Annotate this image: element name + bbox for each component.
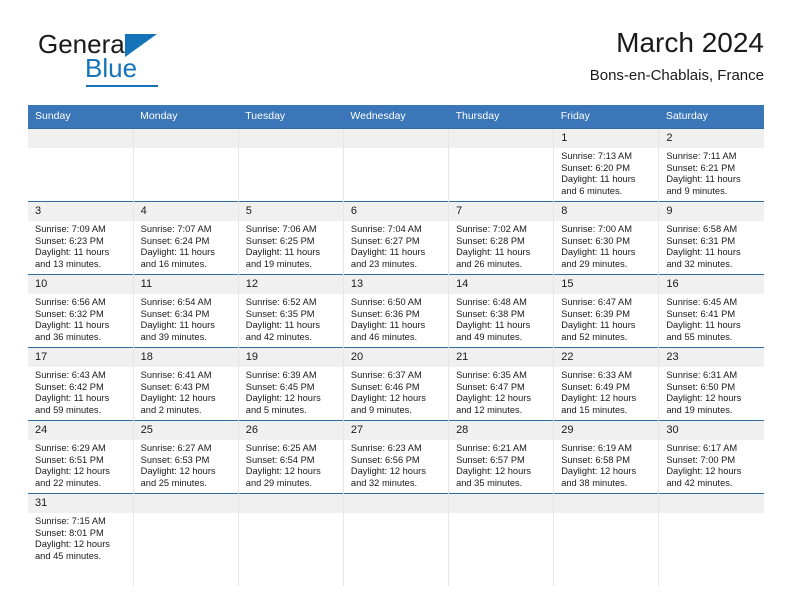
day-number: 19 bbox=[239, 348, 343, 367]
calendar-empty-cell bbox=[449, 129, 554, 202]
calendar-empty-cell bbox=[133, 129, 238, 202]
day-number: 12 bbox=[239, 275, 343, 294]
daylight-text: Daylight: 12 hours and 42 minutes. bbox=[666, 466, 758, 489]
day-events: Sunrise: 6:31 AMSunset: 6:50 PMDaylight:… bbox=[659, 367, 764, 418]
sunset-text: Sunset: 6:43 PM bbox=[141, 382, 232, 394]
day-events: Sunrise: 6:33 AMSunset: 6:49 PMDaylight:… bbox=[554, 367, 658, 418]
day-events: Sunrise: 7:07 AMSunset: 6:24 PMDaylight:… bbox=[134, 221, 238, 272]
calendar-empty-cell bbox=[238, 494, 343, 587]
sunset-text: Sunset: 6:56 PM bbox=[351, 455, 442, 467]
day-events: Sunrise: 6:35 AMSunset: 6:47 PMDaylight:… bbox=[449, 367, 553, 418]
sunrise-text: Sunrise: 7:06 AM bbox=[246, 224, 337, 236]
day-number: 31 bbox=[28, 494, 133, 513]
day-events: Sunrise: 6:54 AMSunset: 6:34 PMDaylight:… bbox=[134, 294, 238, 345]
day-events: Sunrise: 6:43 AMSunset: 6:42 PMDaylight:… bbox=[28, 367, 133, 418]
day-events: Sunrise: 6:17 AMSunset: 7:00 PMDaylight:… bbox=[659, 440, 764, 491]
daylight-text: Daylight: 12 hours and 25 minutes. bbox=[141, 466, 232, 489]
sunset-text: Sunset: 6:54 PM bbox=[246, 455, 337, 467]
sunset-text: Sunset: 6:30 PM bbox=[561, 236, 652, 248]
daylight-text: Daylight: 11 hours and 9 minutes. bbox=[666, 174, 758, 197]
calendar-day-cell[interactable]: 15Sunrise: 6:47 AMSunset: 6:39 PMDayligh… bbox=[554, 275, 659, 348]
calendar-empty-cell bbox=[238, 129, 343, 202]
day-number: 28 bbox=[449, 421, 553, 440]
sunrise-text: Sunrise: 7:09 AM bbox=[35, 224, 127, 236]
day-number: 15 bbox=[554, 275, 658, 294]
day-number bbox=[554, 494, 658, 513]
calendar-week-row: 17Sunrise: 6:43 AMSunset: 6:42 PMDayligh… bbox=[28, 348, 764, 421]
sunset-text: Sunset: 6:41 PM bbox=[666, 309, 758, 321]
sunset-text: Sunset: 6:49 PM bbox=[561, 382, 652, 394]
sunset-text: Sunset: 6:27 PM bbox=[351, 236, 442, 248]
daylight-text: Daylight: 11 hours and 55 minutes. bbox=[666, 320, 758, 343]
sunrise-text: Sunrise: 6:50 AM bbox=[351, 297, 442, 309]
day-number bbox=[134, 494, 238, 513]
calendar-empty-cell bbox=[343, 494, 448, 587]
day-events: Sunrise: 6:37 AMSunset: 6:46 PMDaylight:… bbox=[344, 367, 448, 418]
sunrise-text: Sunrise: 6:43 AM bbox=[35, 370, 127, 382]
daylight-text: Daylight: 11 hours and 16 minutes. bbox=[141, 247, 232, 270]
sunrise-text: Sunrise: 6:17 AM bbox=[666, 443, 758, 455]
weekday-header-wednesday: Wednesday bbox=[343, 105, 448, 129]
brand-logo[interactable]: General Blue bbox=[28, 26, 248, 88]
sunrise-text: Sunrise: 6:29 AM bbox=[35, 443, 127, 455]
day-number bbox=[239, 129, 343, 148]
weekday-header-sunday: Sunday bbox=[28, 105, 133, 129]
calendar-day-cell[interactable]: 13Sunrise: 6:50 AMSunset: 6:36 PMDayligh… bbox=[343, 275, 448, 348]
sunset-text: Sunset: 6:42 PM bbox=[35, 382, 127, 394]
calendar-day-cell[interactable]: 4Sunrise: 7:07 AMSunset: 6:24 PMDaylight… bbox=[133, 202, 238, 275]
day-number: 22 bbox=[554, 348, 658, 367]
day-events: Sunrise: 7:15 AMSunset: 8:01 PMDaylight:… bbox=[28, 513, 133, 564]
calendar-day-cell[interactable]: 28Sunrise: 6:21 AMSunset: 6:57 PMDayligh… bbox=[449, 421, 554, 494]
sunset-text: Sunset: 6:38 PM bbox=[456, 309, 547, 321]
calendar-day-cell[interactable]: 8Sunrise: 7:00 AMSunset: 6:30 PMDaylight… bbox=[554, 202, 659, 275]
sunset-text: Sunset: 6:25 PM bbox=[246, 236, 337, 248]
sunset-text: Sunset: 6:45 PM bbox=[246, 382, 337, 394]
day-number bbox=[449, 129, 553, 148]
day-number bbox=[134, 129, 238, 148]
calendar-day-cell[interactable]: 21Sunrise: 6:35 AMSunset: 6:47 PMDayligh… bbox=[449, 348, 554, 421]
sunset-text: Sunset: 6:35 PM bbox=[246, 309, 337, 321]
daylight-text: Daylight: 11 hours and 13 minutes. bbox=[35, 247, 127, 270]
day-number: 10 bbox=[28, 275, 133, 294]
calendar-day-cell[interactable]: 14Sunrise: 6:48 AMSunset: 6:38 PMDayligh… bbox=[449, 275, 554, 348]
day-number: 21 bbox=[449, 348, 553, 367]
calendar-day-cell[interactable]: 19Sunrise: 6:39 AMSunset: 6:45 PMDayligh… bbox=[238, 348, 343, 421]
daylight-text: Daylight: 12 hours and 22 minutes. bbox=[35, 466, 127, 489]
daylight-text: Daylight: 12 hours and 2 minutes. bbox=[141, 393, 232, 416]
daylight-text: Daylight: 12 hours and 32 minutes. bbox=[351, 466, 442, 489]
sunset-text: Sunset: 6:36 PM bbox=[351, 309, 442, 321]
day-events: Sunrise: 7:06 AMSunset: 6:25 PMDaylight:… bbox=[239, 221, 343, 272]
calendar-day-cell[interactable]: 22Sunrise: 6:33 AMSunset: 6:49 PMDayligh… bbox=[554, 348, 659, 421]
day-number bbox=[239, 494, 343, 513]
sunrise-text: Sunrise: 6:21 AM bbox=[456, 443, 547, 455]
day-events: Sunrise: 6:41 AMSunset: 6:43 PMDaylight:… bbox=[134, 367, 238, 418]
daylight-text: Daylight: 11 hours and 23 minutes. bbox=[351, 247, 442, 270]
sunset-text: Sunset: 7:00 PM bbox=[666, 455, 758, 467]
day-number: 5 bbox=[239, 202, 343, 221]
sunrise-text: Sunrise: 6:27 AM bbox=[141, 443, 232, 455]
day-number: 23 bbox=[659, 348, 764, 367]
calendar-day-cell[interactable]: 3Sunrise: 7:09 AMSunset: 6:23 PMDaylight… bbox=[28, 202, 133, 275]
calendar-header-row: Sunday Monday Tuesday Wednesday Thursday… bbox=[28, 105, 764, 129]
daylight-text: Daylight: 11 hours and 52 minutes. bbox=[561, 320, 652, 343]
calendar-empty-cell bbox=[554, 494, 659, 587]
sunrise-text: Sunrise: 7:04 AM bbox=[351, 224, 442, 236]
day-number: 16 bbox=[659, 275, 764, 294]
calendar-day-cell[interactable]: 31Sunrise: 7:15 AMSunset: 8:01 PMDayligh… bbox=[28, 494, 133, 587]
sunset-text: Sunset: 6:57 PM bbox=[456, 455, 547, 467]
day-events: Sunrise: 6:45 AMSunset: 6:41 PMDaylight:… bbox=[659, 294, 764, 345]
day-number: 7 bbox=[449, 202, 553, 221]
sunset-text: Sunset: 6:51 PM bbox=[35, 455, 127, 467]
brand-name-bottom: Blue bbox=[85, 53, 137, 84]
day-number: 29 bbox=[554, 421, 658, 440]
sunset-text: Sunset: 6:31 PM bbox=[666, 236, 758, 248]
calendar-day-cell[interactable]: 12Sunrise: 6:52 AMSunset: 6:35 PMDayligh… bbox=[238, 275, 343, 348]
page-subtitle: Bons-en-Chablais, France bbox=[590, 66, 764, 85]
day-events: Sunrise: 6:23 AMSunset: 6:56 PMDaylight:… bbox=[344, 440, 448, 491]
day-number bbox=[449, 494, 553, 513]
day-events: Sunrise: 7:09 AMSunset: 6:23 PMDaylight:… bbox=[28, 221, 133, 272]
calendar-empty-cell bbox=[343, 129, 448, 202]
day-events: Sunrise: 7:02 AMSunset: 6:28 PMDaylight:… bbox=[449, 221, 553, 272]
daylight-text: Daylight: 11 hours and 36 minutes. bbox=[35, 320, 127, 343]
day-number: 11 bbox=[134, 275, 238, 294]
sunset-text: Sunset: 6:21 PM bbox=[666, 163, 758, 175]
calendar-day-cell[interactable]: 11Sunrise: 6:54 AMSunset: 6:34 PMDayligh… bbox=[133, 275, 238, 348]
day-number: 1 bbox=[554, 129, 658, 148]
day-events: Sunrise: 6:39 AMSunset: 6:45 PMDaylight:… bbox=[239, 367, 343, 418]
daylight-text: Daylight: 11 hours and 59 minutes. bbox=[35, 393, 127, 416]
calendar-week-row: 24Sunrise: 6:29 AMSunset: 6:51 PMDayligh… bbox=[28, 421, 764, 494]
daylight-text: Daylight: 11 hours and 6 minutes. bbox=[561, 174, 652, 197]
day-number: 30 bbox=[659, 421, 764, 440]
daylight-text: Daylight: 11 hours and 29 minutes. bbox=[561, 247, 652, 270]
day-number bbox=[28, 129, 133, 148]
daylight-text: Daylight: 11 hours and 42 minutes. bbox=[246, 320, 337, 343]
day-number: 2 bbox=[659, 129, 764, 148]
day-number: 24 bbox=[28, 421, 133, 440]
sunset-text: Sunset: 6:28 PM bbox=[456, 236, 547, 248]
sunrise-text: Sunrise: 6:48 AM bbox=[456, 297, 547, 309]
sunrise-text: Sunrise: 6:47 AM bbox=[561, 297, 652, 309]
calendar-empty-cell bbox=[28, 129, 133, 202]
sunset-text: Sunset: 6:58 PM bbox=[561, 455, 652, 467]
daylight-text: Daylight: 12 hours and 15 minutes. bbox=[561, 393, 652, 416]
sunset-text: Sunset: 6:34 PM bbox=[141, 309, 232, 321]
sunrise-text: Sunrise: 6:58 AM bbox=[666, 224, 758, 236]
sunrise-text: Sunrise: 6:31 AM bbox=[666, 370, 758, 382]
calendar-day-cell[interactable]: 17Sunrise: 6:43 AMSunset: 6:42 PMDayligh… bbox=[28, 348, 133, 421]
calendar-empty-cell bbox=[659, 494, 764, 587]
sunrise-text: Sunrise: 6:23 AM bbox=[351, 443, 442, 455]
calendar-week-row: 31Sunrise: 7:15 AMSunset: 8:01 PMDayligh… bbox=[28, 494, 764, 587]
day-number bbox=[659, 494, 764, 513]
sunset-text: Sunset: 6:46 PM bbox=[351, 382, 442, 394]
calendar-day-cell[interactable]: 9Sunrise: 6:58 AMSunset: 6:31 PMDaylight… bbox=[659, 202, 764, 275]
day-events: Sunrise: 7:11 AMSunset: 6:21 PMDaylight:… bbox=[659, 148, 764, 199]
sunset-text: Sunset: 6:23 PM bbox=[35, 236, 127, 248]
calendar-body: 1Sunrise: 7:13 AMSunset: 6:20 PMDaylight… bbox=[28, 129, 764, 587]
daylight-text: Daylight: 11 hours and 19 minutes. bbox=[246, 247, 337, 270]
sunset-text: Sunset: 6:50 PM bbox=[666, 382, 758, 394]
daylight-text: Daylight: 12 hours and 29 minutes. bbox=[246, 466, 337, 489]
calendar-empty-cell bbox=[133, 494, 238, 587]
calendar-day-cell[interactable]: 30Sunrise: 6:17 AMSunset: 7:00 PMDayligh… bbox=[659, 421, 764, 494]
sunset-text: Sunset: 8:01 PM bbox=[35, 528, 127, 540]
daylight-text: Daylight: 11 hours and 39 minutes. bbox=[141, 320, 232, 343]
day-number: 26 bbox=[239, 421, 343, 440]
sunrise-text: Sunrise: 7:02 AM bbox=[456, 224, 547, 236]
sunrise-text: Sunrise: 6:56 AM bbox=[35, 297, 127, 309]
calendar-empty-cell bbox=[449, 494, 554, 587]
day-number: 18 bbox=[134, 348, 238, 367]
calendar-day-cell[interactable]: 27Sunrise: 6:23 AMSunset: 6:56 PMDayligh… bbox=[343, 421, 448, 494]
calendar-day-cell[interactable]: 10Sunrise: 6:56 AMSunset: 6:32 PMDayligh… bbox=[28, 275, 133, 348]
sunset-text: Sunset: 6:47 PM bbox=[456, 382, 547, 394]
calendar-day-cell[interactable]: 24Sunrise: 6:29 AMSunset: 6:51 PMDayligh… bbox=[28, 421, 133, 494]
day-number: 9 bbox=[659, 202, 764, 221]
day-number: 17 bbox=[28, 348, 133, 367]
day-events: Sunrise: 6:47 AMSunset: 6:39 PMDaylight:… bbox=[554, 294, 658, 345]
calendar-day-cell[interactable]: 7Sunrise: 7:02 AMSunset: 6:28 PMDaylight… bbox=[449, 202, 554, 275]
day-events: Sunrise: 6:27 AMSunset: 6:53 PMDaylight:… bbox=[134, 440, 238, 491]
calendar-week-row: 10Sunrise: 6:56 AMSunset: 6:32 PMDayligh… bbox=[28, 275, 764, 348]
weekday-header-thursday: Thursday bbox=[449, 105, 554, 129]
day-events: Sunrise: 6:29 AMSunset: 6:51 PMDaylight:… bbox=[28, 440, 133, 491]
calendar-day-cell[interactable]: 1Sunrise: 7:13 AMSunset: 6:20 PMDaylight… bbox=[554, 129, 659, 202]
daylight-text: Daylight: 12 hours and 9 minutes. bbox=[351, 393, 442, 416]
sunrise-text: Sunrise: 6:41 AM bbox=[141, 370, 232, 382]
day-number: 6 bbox=[344, 202, 448, 221]
day-number: 4 bbox=[134, 202, 238, 221]
sunset-text: Sunset: 6:39 PM bbox=[561, 309, 652, 321]
sunrise-text: Sunrise: 7:13 AM bbox=[561, 151, 652, 163]
daylight-text: Daylight: 11 hours and 32 minutes. bbox=[666, 247, 758, 270]
day-events: Sunrise: 7:00 AMSunset: 6:30 PMDaylight:… bbox=[554, 221, 658, 272]
sunrise-text: Sunrise: 7:07 AM bbox=[141, 224, 232, 236]
weekday-header-monday: Monday bbox=[133, 105, 238, 129]
calendar-table: Sunday Monday Tuesday Wednesday Thursday… bbox=[28, 105, 764, 586]
sunrise-text: Sunrise: 6:54 AM bbox=[141, 297, 232, 309]
calendar-day-cell[interactable]: 26Sunrise: 6:25 AMSunset: 6:54 PMDayligh… bbox=[238, 421, 343, 494]
day-number bbox=[344, 129, 448, 148]
sunset-text: Sunset: 6:32 PM bbox=[35, 309, 127, 321]
sunset-text: Sunset: 6:24 PM bbox=[141, 236, 232, 248]
day-number: 14 bbox=[449, 275, 553, 294]
sunrise-text: Sunrise: 7:00 AM bbox=[561, 224, 652, 236]
daylight-text: Daylight: 11 hours and 26 minutes. bbox=[456, 247, 547, 270]
day-events: Sunrise: 7:04 AMSunset: 6:27 PMDaylight:… bbox=[344, 221, 448, 272]
daylight-text: Daylight: 11 hours and 46 minutes. bbox=[351, 320, 442, 343]
daylight-text: Daylight: 12 hours and 38 minutes. bbox=[561, 466, 652, 489]
day-number: 25 bbox=[134, 421, 238, 440]
sunrise-text: Sunrise: 6:35 AM bbox=[456, 370, 547, 382]
calendar-day-cell[interactable]: 2Sunrise: 7:11 AMSunset: 6:21 PMDaylight… bbox=[659, 129, 764, 202]
sunrise-text: Sunrise: 6:37 AM bbox=[351, 370, 442, 382]
sunrise-text: Sunrise: 6:19 AM bbox=[561, 443, 652, 455]
day-events: Sunrise: 7:13 AMSunset: 6:20 PMDaylight:… bbox=[554, 148, 658, 199]
sunrise-text: Sunrise: 7:11 AM bbox=[666, 151, 758, 163]
title-block: March 2024 Bons-en-Chablais, France bbox=[590, 26, 764, 85]
daylight-text: Daylight: 12 hours and 5 minutes. bbox=[246, 393, 337, 416]
page-header: General Blue March 2024 Bons-en-Chablais… bbox=[28, 26, 764, 96]
sunrise-text: Sunrise: 6:39 AM bbox=[246, 370, 337, 382]
calendar-page: General Blue March 2024 Bons-en-Chablais… bbox=[0, 0, 792, 612]
weekday-header-friday: Friday bbox=[554, 105, 659, 129]
day-events: Sunrise: 6:19 AMSunset: 6:58 PMDaylight:… bbox=[554, 440, 658, 491]
day-events: Sunrise: 6:48 AMSunset: 6:38 PMDaylight:… bbox=[449, 294, 553, 345]
daylight-text: Daylight: 11 hours and 49 minutes. bbox=[456, 320, 547, 343]
brand-underline bbox=[86, 85, 158, 87]
sunrise-text: Sunrise: 6:45 AM bbox=[666, 297, 758, 309]
sunrise-text: Sunrise: 6:33 AM bbox=[561, 370, 652, 382]
daylight-text: Daylight: 12 hours and 19 minutes. bbox=[666, 393, 758, 416]
sunrise-text: Sunrise: 6:52 AM bbox=[246, 297, 337, 309]
daylight-text: Daylight: 12 hours and 45 minutes. bbox=[35, 539, 127, 562]
daylight-text: Daylight: 12 hours and 35 minutes. bbox=[456, 466, 547, 489]
page-title: March 2024 bbox=[590, 26, 764, 60]
calendar-day-cell[interactable]: 5Sunrise: 7:06 AMSunset: 6:25 PMDaylight… bbox=[238, 202, 343, 275]
day-number: 8 bbox=[554, 202, 658, 221]
day-events: Sunrise: 6:25 AMSunset: 6:54 PMDaylight:… bbox=[239, 440, 343, 491]
calendar-week-row: 1Sunrise: 7:13 AMSunset: 6:20 PMDaylight… bbox=[28, 129, 764, 202]
day-events: Sunrise: 6:50 AMSunset: 6:36 PMDaylight:… bbox=[344, 294, 448, 345]
calendar-day-cell[interactable]: 23Sunrise: 6:31 AMSunset: 6:50 PMDayligh… bbox=[659, 348, 764, 421]
day-events: Sunrise: 6:56 AMSunset: 6:32 PMDaylight:… bbox=[28, 294, 133, 345]
day-number: 20 bbox=[344, 348, 448, 367]
day-number bbox=[344, 494, 448, 513]
calendar-week-row: 3Sunrise: 7:09 AMSunset: 6:23 PMDaylight… bbox=[28, 202, 764, 275]
sunset-text: Sunset: 6:53 PM bbox=[141, 455, 232, 467]
day-number: 3 bbox=[28, 202, 133, 221]
calendar-day-cell[interactable]: 6Sunrise: 7:04 AMSunset: 6:27 PMDaylight… bbox=[343, 202, 448, 275]
sunrise-text: Sunrise: 7:15 AM bbox=[35, 516, 127, 528]
sunset-text: Sunset: 6:20 PM bbox=[561, 163, 652, 175]
calendar-day-cell[interactable]: 25Sunrise: 6:27 AMSunset: 6:53 PMDayligh… bbox=[133, 421, 238, 494]
daylight-text: Daylight: 12 hours and 12 minutes. bbox=[456, 393, 547, 416]
day-number: 13 bbox=[344, 275, 448, 294]
day-events: Sunrise: 6:58 AMSunset: 6:31 PMDaylight:… bbox=[659, 221, 764, 272]
day-number: 27 bbox=[344, 421, 448, 440]
sunrise-text: Sunrise: 6:25 AM bbox=[246, 443, 337, 455]
calendar-day-cell[interactable]: 29Sunrise: 6:19 AMSunset: 6:58 PMDayligh… bbox=[554, 421, 659, 494]
day-events: Sunrise: 6:21 AMSunset: 6:57 PMDaylight:… bbox=[449, 440, 553, 491]
day-events: Sunrise: 6:52 AMSunset: 6:35 PMDaylight:… bbox=[239, 294, 343, 345]
calendar-day-cell[interactable]: 20Sunrise: 6:37 AMSunset: 6:46 PMDayligh… bbox=[343, 348, 448, 421]
calendar-day-cell[interactable]: 16Sunrise: 6:45 AMSunset: 6:41 PMDayligh… bbox=[659, 275, 764, 348]
calendar-day-cell[interactable]: 18Sunrise: 6:41 AMSunset: 6:43 PMDayligh… bbox=[133, 348, 238, 421]
weekday-header-tuesday: Tuesday bbox=[238, 105, 343, 129]
weekday-header-saturday: Saturday bbox=[659, 105, 764, 129]
